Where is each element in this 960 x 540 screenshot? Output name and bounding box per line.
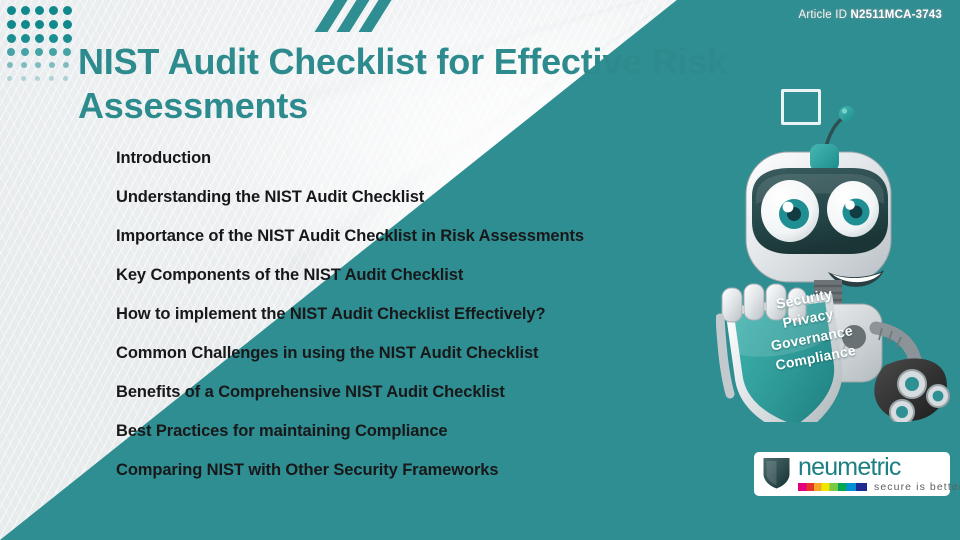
logo-text-block: neumetric secure is better bbox=[798, 456, 960, 493]
article-id: Article ID N2511MCA-3743 bbox=[798, 9, 942, 21]
logo-color-bar bbox=[798, 483, 867, 491]
logo-wordmark: neumetric bbox=[798, 456, 960, 479]
robot-mascot-illustration: Security Privacy Governance Compliance bbox=[716, 104, 960, 422]
list-item: How to implement the NIST Audit Checklis… bbox=[116, 295, 736, 334]
list-item: Understanding the NIST Audit Checklist bbox=[116, 178, 736, 217]
list-item: Key Components of the NIST Audit Checkli… bbox=[116, 256, 736, 295]
list-item: Importance of the NIST Audit Checklist i… bbox=[116, 217, 736, 256]
list-item: Best Practices for maintaining Complianc… bbox=[116, 412, 736, 451]
diagonal-stripes-top bbox=[327, 0, 384, 32]
list-item: Common Challenges in using the NIST Audi… bbox=[116, 334, 736, 373]
neumetric-logo: neumetric secure is better bbox=[754, 452, 950, 496]
shield-icon bbox=[762, 455, 791, 494]
list-item: Comparing NIST with Other Security Frame… bbox=[116, 451, 736, 490]
diagonal-stripes-bottom bbox=[112, 498, 172, 540]
page-title: NIST Audit Checklist for Effective Risk … bbox=[78, 40, 768, 129]
slide-canvas: Article ID N2511MCA-3743 NIST Audit Chec… bbox=[0, 0, 960, 540]
dot-matrix-decoration bbox=[7, 6, 77, 90]
list-item: Benefits of a Comprehensive NIST Audit C… bbox=[116, 373, 736, 412]
article-id-value: N2511MCA-3743 bbox=[851, 9, 942, 21]
logo-tagline: secure is better bbox=[874, 481, 960, 493]
article-id-label: Article ID bbox=[798, 9, 847, 21]
table-of-contents: Introduction Understanding the NIST Audi… bbox=[116, 139, 736, 490]
list-item: Introduction bbox=[116, 139, 736, 178]
logo-tagline-row: secure is better bbox=[798, 481, 960, 493]
